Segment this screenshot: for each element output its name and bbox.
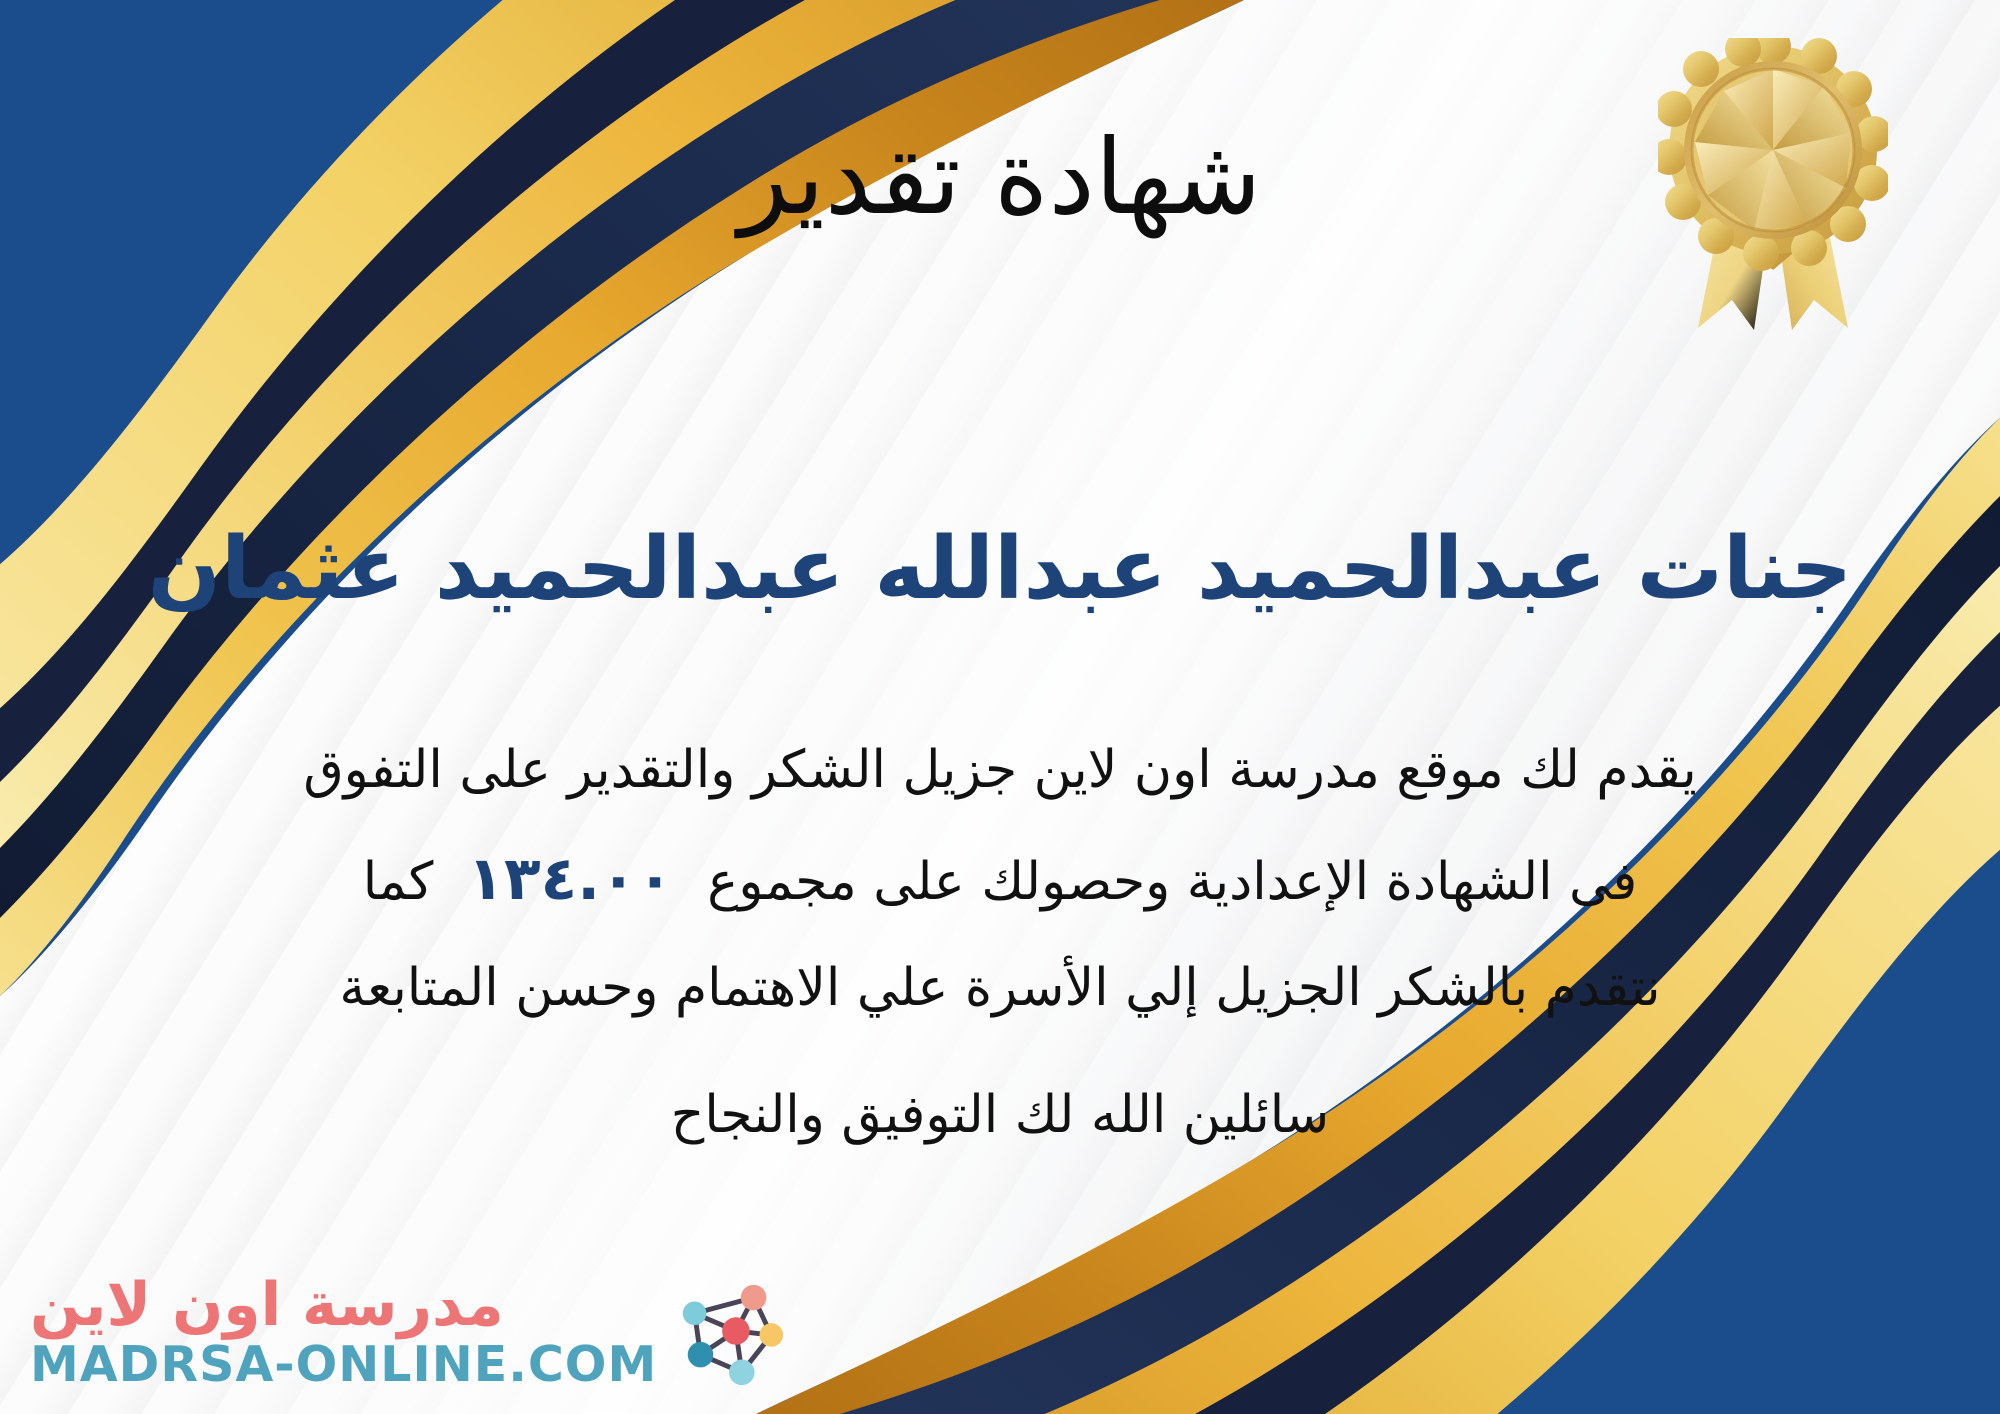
brand-domain: MADRSA-ONLINE.COM <box>30 1339 657 1390</box>
brand-name-arabic: مدرسة اون لاين <box>30 1275 504 1335</box>
citation-line-2-suffix: كما <box>363 852 434 912</box>
citation-line-2: فى الشهادة الإعدادية وحصولك على مجموع١٣٤… <box>60 821 1940 938</box>
recipient-name: جنات عبدالحميد عبدالله عبدالحميد عثمان <box>0 520 2000 619</box>
total-score-value: ١٣٤.٠٠ <box>433 821 707 938</box>
citation-line-2-prefix: فى الشهادة الإعدادية وحصولك على مجموع <box>707 852 1637 912</box>
closing-wish: سائلين الله لك التوفيق والنجاح <box>0 1085 2000 1145</box>
citation-body: يقدم لك موقع مدرسة اون لاين جزيل الشكر و… <box>60 720 1940 1040</box>
citation-line-1: يقدم لك موقع مدرسة اون لاين جزيل الشكر و… <box>60 720 1940 821</box>
brand-logo-text: مدرسة اون لاين MADRSA-ONLINE.COM <box>30 1275 657 1390</box>
certificate-canvas: شهادة تقدير جنات عبدالحميد عبدالله عبدال… <box>0 0 2000 1414</box>
page-title: شهادة تقدير <box>0 120 2000 234</box>
citation-line-3: نتقدم بالشكر الجزيل إلي الأسرة علي الاهت… <box>60 938 1940 1039</box>
certificate-content: شهادة تقدير جنات عبدالحميد عبدالله عبدال… <box>0 0 2000 1414</box>
network-nodes-icon <box>671 1274 789 1392</box>
brand-logo[interactable]: مدرسة اون لاين MADRSA-ONLINE.COM <box>30 1274 789 1392</box>
